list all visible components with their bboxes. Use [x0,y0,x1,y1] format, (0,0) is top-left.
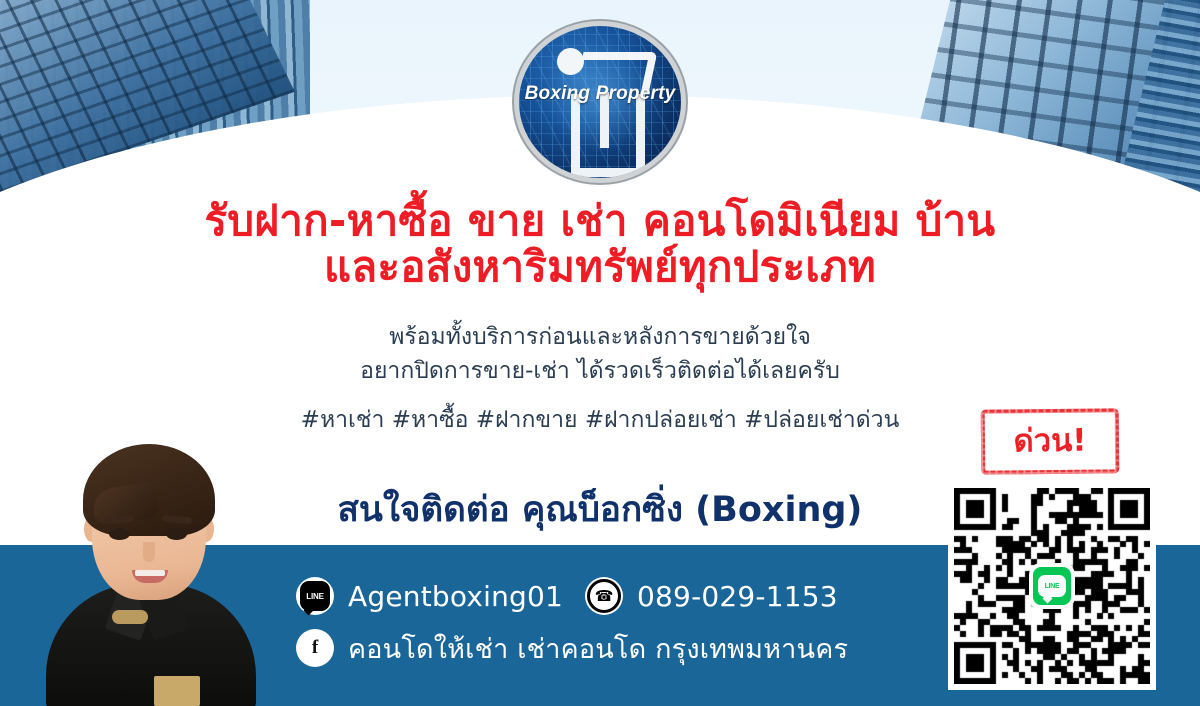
subtitle-line-2: อยากปิดการขาย-เช่า ได้รวดเร็วติดต่อได้เล… [180,354,1020,388]
logo-text: Boxing Property [519,83,681,105]
brand-logo: Boxing Property [519,26,681,178]
qr-line-logo-icon: LINE [1029,563,1075,609]
agent-portrait [26,424,272,706]
facebook-icon: f [296,629,334,667]
line-id-text: Agentboxing01 [348,580,563,613]
portrait-name-badge [154,676,200,706]
facebook-f-glyph: f [298,631,332,665]
portrait-brooch [112,610,148,624]
portrait-hair [83,444,215,536]
qr-matrix: LINE [954,488,1150,684]
qr-line-label: LINE [1045,583,1060,590]
line-icon: LINE [296,577,334,615]
phone-icon: ☎ [585,577,623,615]
line-bubble-icon: LINE [1038,575,1066,597]
page-title: รับฝาก-หาซื้อ ขาย เช่า คอนโดมิเนียม บ้าน… [120,198,1080,290]
subtitle-line-1: พร้อมทั้งบริการก่อนและหลังการขายด้วยใจ [180,320,1020,354]
portrait-teeth [135,570,165,576]
logo-building-icon [571,94,645,177]
hashtag-list: #หาเช่า #หาซื้อ #ฝากขาย #ฝากปล่อยเช่า #ป… [180,405,1020,435]
portrait-eye-left [109,528,130,540]
facebook-page-text: คอนโดให้เช่า เช่าคอนโด กรุงเทพมหานคร [348,627,848,670]
urgent-stamp-label: ด่วน! [1013,426,1086,458]
poster-canvas: Boxing Property รับฝาก-หาซื้อ ขาย เช่า ค… [0,0,1200,706]
line-qr-code[interactable]: LINE [948,482,1156,690]
portrait-nose [143,542,155,562]
contact-row-facebook[interactable]: f คอนโดให้เช่า เช่าคอนโด กรุงเทพมหานคร [296,622,916,674]
headline-line-2: และอสังหาริมทรัพย์ทุกประเภท [120,244,1080,290]
contact-heading: สนใจติดต่อ คุณบ็อกซิ่ง (Boxing) [180,489,1020,531]
subtitle: พร้อมทั้งบริการก่อนและหลังการขายด้วยใจ อ… [180,320,1020,388]
urgent-stamp: ด่วน! [981,408,1120,474]
phone-number-text: 089-029-1153 [637,580,838,613]
headline-line-1: รับฝาก-หาซื้อ ขาย เช่า คอนโดมิเนียม บ้าน [120,198,1080,244]
contact-details: LINE Agentboxing01 ☎ 089-029-1153 f คอนโ… [296,570,916,674]
line-bubble-glyph: LINE [300,581,330,611]
contact-row-line[interactable]: LINE Agentboxing01 ☎ 089-029-1153 [296,570,916,622]
portrait-eye-right [166,528,187,540]
phone-handset-glyph: ☎ [587,579,621,613]
